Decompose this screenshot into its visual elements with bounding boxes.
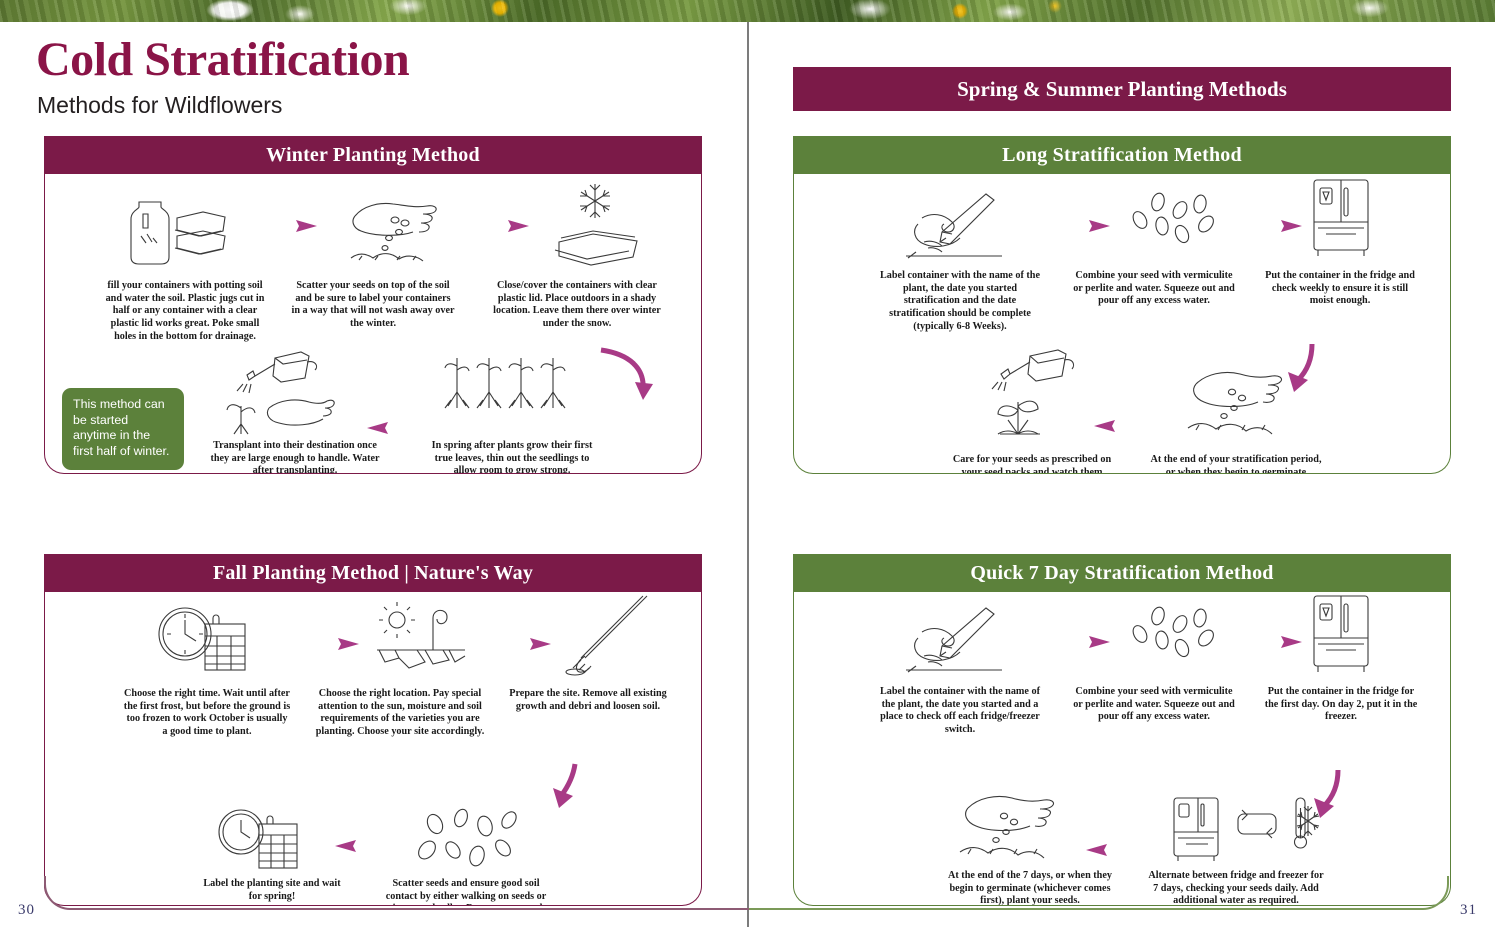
arrow-curve-down-2 — [545, 762, 589, 816]
left-page: Cold Stratification Methods for Wildflow… — [0, 22, 747, 927]
seedlings-row-icon — [443, 356, 579, 432]
scattered-seeds-icon — [417, 810, 527, 872]
hand-writing-label-icon-2 — [904, 608, 1006, 674]
arrow-right-7 — [1044, 634, 1110, 650]
arrow-right-1 — [251, 218, 317, 234]
card-body-fall: Choose the right time. Wait until after … — [44, 592, 702, 906]
card-long-stratification: Long Stratification Method — [793, 136, 1451, 474]
magazine-spread: Cold Stratification Methods for Wildflow… — [0, 0, 1495, 927]
step-caption-5: In spring after plants grow their first … — [427, 440, 597, 474]
card-header-long-strat: Long Stratification Method — [793, 136, 1451, 174]
arrow-right-8 — [1236, 634, 1302, 650]
step-caption-11: Label container with the name of the pla… — [878, 270, 1042, 333]
step-caption-7: Choose the right location. Pay special a… — [315, 688, 485, 739]
right-page: Spring & Summer Planting Methods Long St… — [749, 22, 1495, 927]
watering-can-seedling-icon — [970, 350, 1094, 436]
page-number-left: 30 — [18, 902, 35, 919]
step-caption-6: Choose the right time. Wait until after … — [123, 688, 291, 739]
step-caption-14: Care for your seeds as prescribed on you… — [950, 454, 1114, 474]
card-body-winter: fill your containers with potting soil a… — [44, 174, 702, 474]
arrow-right-5 — [1044, 218, 1110, 234]
card-header-label: Quick 7 Day Stratification Method — [970, 562, 1273, 585]
hand-writing-label-icon — [904, 194, 1006, 260]
step-caption-1: fill your containers with potting soil a… — [105, 280, 265, 343]
step-caption-15: At the end of your stratification period… — [1150, 454, 1322, 474]
clock-and-calendar-icon-2 — [213, 808, 309, 870]
page-subtitle: Methods for Wildflowers — [37, 92, 282, 119]
card-header-label: Long Stratification Method — [1002, 144, 1242, 167]
winter-method-callout: This method can be started anytime in th… — [62, 388, 184, 470]
arrow-right-3 — [293, 636, 359, 652]
step-caption-17: Combine your seed with vermiculite or pe… — [1070, 686, 1238, 724]
page-title: Cold Stratification — [36, 36, 409, 84]
card-winter-planting: Winter Planting Method — [44, 136, 702, 474]
card-fall-planting: Fall Planting Method | Nature's Way — [44, 554, 702, 906]
snowflake-over-container-icon — [543, 180, 653, 266]
card-header-fall: Fall Planting Method | Nature's Way — [44, 554, 702, 592]
page-edge-curve-right — [749, 876, 1449, 910]
step-caption-2: Scatter your seeds on top of the soil an… — [290, 280, 456, 331]
section-banner-label: Spring & Summer Planting Methods — [957, 77, 1287, 102]
step-caption-8: Prepare the site. Remove all existing gr… — [507, 688, 669, 713]
refrigerator-icon — [1306, 178, 1376, 258]
hand-sowing-seeds-icon — [1184, 360, 1304, 436]
arrow-left-4 — [1086, 842, 1152, 858]
arrow-curve-down — [595, 348, 659, 410]
section-banner-spring-summer: Spring & Summer Planting Methods — [793, 67, 1451, 111]
sun-and-soil-icon — [375, 602, 467, 674]
refrigerator-icon-2 — [1306, 594, 1376, 674]
arrow-left-2 — [335, 838, 401, 854]
arrow-right-4 — [485, 636, 551, 652]
arrow-left-1 — [367, 420, 433, 436]
jug-and-container-icon — [125, 188, 235, 266]
fridge-freezer-alternate-icon — [1172, 796, 1332, 866]
watering-can-and-hand-icon — [223, 350, 353, 434]
step-caption-16: Label the container with the name of the… — [880, 686, 1040, 737]
hand-scattering-seeds-icon — [345, 190, 445, 266]
step-caption-13: Put the container in the fridge and chec… — [1260, 270, 1420, 308]
card-body-long-strat: Label container with the name of the pla… — [793, 174, 1451, 474]
clock-and-calendar-icon — [153, 606, 253, 672]
card-header-label: Winter Planting Method — [266, 144, 480, 167]
wildflower-photo-banner — [0, 0, 1495, 22]
page-number-right: 31 — [1460, 902, 1477, 919]
step-caption-3: Close/cover the containers with clear pl… — [493, 280, 661, 331]
card-header-winter: Winter Planting Method — [44, 136, 702, 174]
scattered-seeds-icon-2 — [1124, 190, 1224, 250]
arrow-left-3 — [1094, 418, 1160, 434]
arrow-right-2 — [463, 218, 529, 234]
page-edge-curve-left — [44, 876, 749, 910]
step-caption-12: Combine your seed with vermiculite or pe… — [1070, 270, 1238, 308]
step-caption-18: Put the container in the fridge for the … — [1262, 686, 1420, 724]
arrow-right-6 — [1236, 218, 1302, 234]
card-header-quick7: Quick 7 Day Stratification Method — [793, 554, 1451, 592]
hand-sowing-seeds-icon-2 — [954, 786, 1078, 860]
card-quick-7-day: Quick 7 Day Stratification Method — [793, 554, 1451, 906]
banner-texture-overlay — [0, 0, 1495, 22]
rake-icon — [559, 594, 655, 676]
card-header-label: Fall Planting Method | Nature's Way — [213, 562, 533, 585]
scattered-seeds-icon-3 — [1124, 604, 1224, 664]
card-body-quick7: Label the container with the name of the… — [793, 592, 1451, 906]
step-caption-4: Transplant into their destination once t… — [205, 440, 385, 474]
